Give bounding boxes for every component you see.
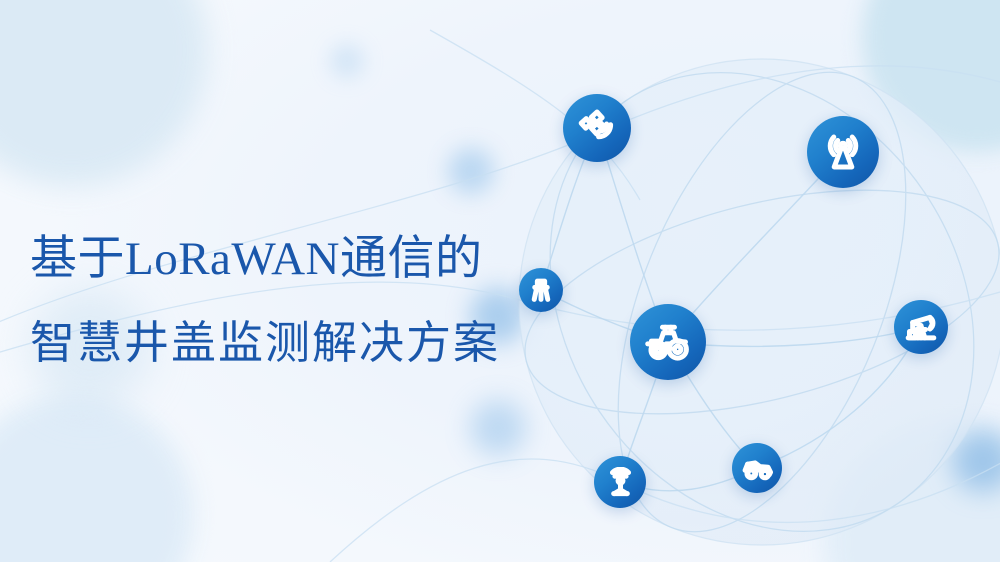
blob-bottom-right <box>824 418 1000 562</box>
slide-title-block: 基于LoRaWAN通信的 智慧井盖监测解决方案 <box>30 228 500 374</box>
accent-dot-a <box>448 148 494 194</box>
accent-dot-c <box>470 400 526 456</box>
accent-dot-d <box>952 430 1000 492</box>
node-sensor[interactable] <box>594 456 646 508</box>
mower-vehicle-icon <box>742 453 773 484</box>
node-oilpump[interactable] <box>894 300 948 354</box>
tractor-icon <box>645 319 691 365</box>
accent-dot-e <box>330 44 364 78</box>
node-antenna[interactable] <box>807 116 879 188</box>
node-tripod[interactable] <box>519 268 563 312</box>
title-line-secondary: 智慧井盖监测解决方案 <box>30 312 500 374</box>
radio-tower-icon <box>821 130 865 174</box>
survey-tripod-icon <box>528 277 554 303</box>
node-connectors <box>541 128 921 491</box>
oil-pumpjack-icon <box>905 311 937 343</box>
satellite-icon <box>577 108 617 148</box>
title-line-primary: 基于LoRaWAN通信的 <box>30 228 500 290</box>
blob-top-right <box>862 0 1000 152</box>
blob-top-left <box>0 0 208 186</box>
node-satellite[interactable] <box>563 94 631 162</box>
node-mower[interactable] <box>732 443 782 493</box>
blob-bottom-left <box>0 395 194 562</box>
sensor-beacon-icon <box>605 467 636 498</box>
title-slide: 基于LoRaWAN通信的 智慧井盖监测解决方案 <box>0 0 1000 562</box>
node-tractor[interactable] <box>630 304 706 380</box>
